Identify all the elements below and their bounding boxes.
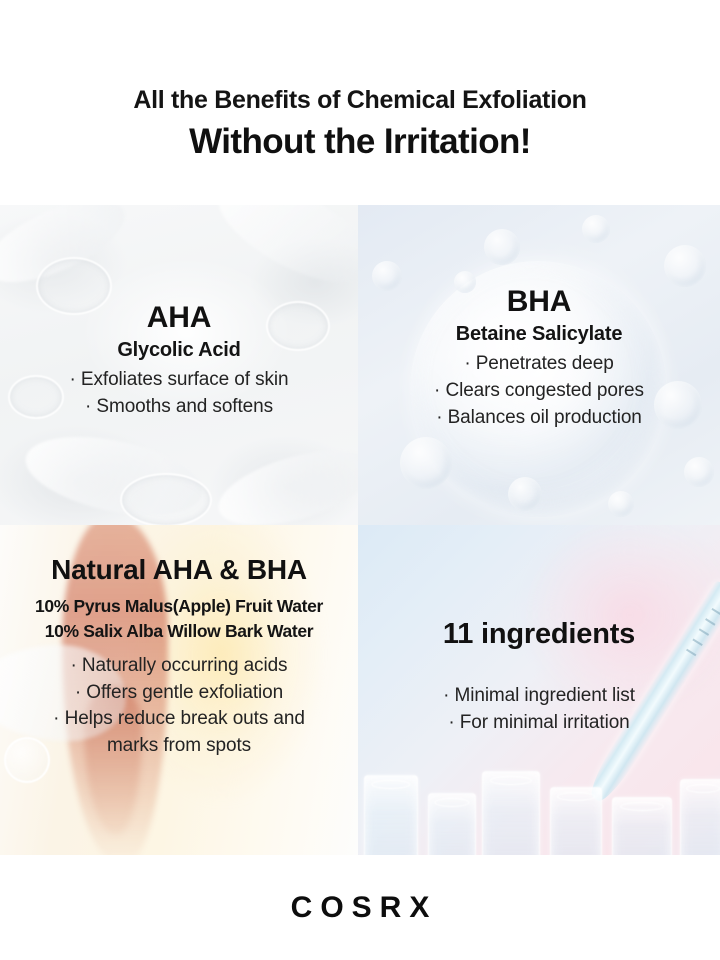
quadrant-bha: BHA Betaine Salicylate · Penetrates deep… <box>358 205 720 525</box>
list-item: · Naturally occurring acids <box>53 653 305 680</box>
list-item: · Balances oil production <box>434 405 644 432</box>
quadrant-ingredients: 11 ingredients · Minimal ingredient list… <box>358 525 720 855</box>
bha-bullet-list: · Penetrates deep · Clears congested por… <box>434 351 644 432</box>
list-item: · Clears congested pores <box>434 378 644 405</box>
footer: COSRX <box>0 855 720 960</box>
natural-ingredient-2: 10% Salix Alba Willow Bark Water <box>45 619 313 644</box>
cosrx-logo: COSRX <box>283 891 438 925</box>
list-item: · Penetrates deep <box>434 351 644 378</box>
list-item: · Minimal ingredient list <box>443 683 635 710</box>
aha-bullet-list: · Exfoliates surface of skin · Smooths a… <box>70 367 289 421</box>
natural-bullet-list: · Naturally occurring acids · Offers gen… <box>53 653 305 761</box>
benefits-grid: AHA Glycolic Acid · Exfoliates surface o… <box>0 205 720 855</box>
ingredients-bullet-list: · Minimal ingredient list · For minimal … <box>443 683 635 737</box>
page-header: All the Benefits of Chemical Exfoliation… <box>0 0 720 163</box>
bha-subtitle: Betaine Salicylate <box>456 322 623 347</box>
list-item: · Offers gentle exfoliation <box>53 680 305 707</box>
headline-line-2: Without the Irritation! <box>0 121 720 163</box>
list-item: · Helps reduce break outs and <box>53 706 305 733</box>
list-item-continuation: marks from spots <box>53 733 305 760</box>
quadrant-aha: AHA Glycolic Acid · Exfoliates surface o… <box>0 205 358 525</box>
list-item: · Smooths and softens <box>70 394 289 421</box>
list-item: · For minimal irritation <box>443 710 635 737</box>
aha-subtitle: Glycolic Acid <box>117 338 240 363</box>
headline-line-1: All the Benefits of Chemical Exfoliation <box>0 86 720 115</box>
list-item: · Exfoliates surface of skin <box>70 367 289 394</box>
bha-title: BHA <box>507 285 571 318</box>
aha-title: AHA <box>147 301 211 334</box>
quadrant-natural-aha-bha: Natural AHA & BHA 10% Pyrus Malus(Apple)… <box>0 525 358 855</box>
natural-ingredient-1: 10% Pyrus Malus(Apple) Fruit Water <box>35 594 323 619</box>
natural-title: Natural AHA & BHA <box>51 555 307 586</box>
ingredients-title: 11 ingredients <box>443 619 635 651</box>
